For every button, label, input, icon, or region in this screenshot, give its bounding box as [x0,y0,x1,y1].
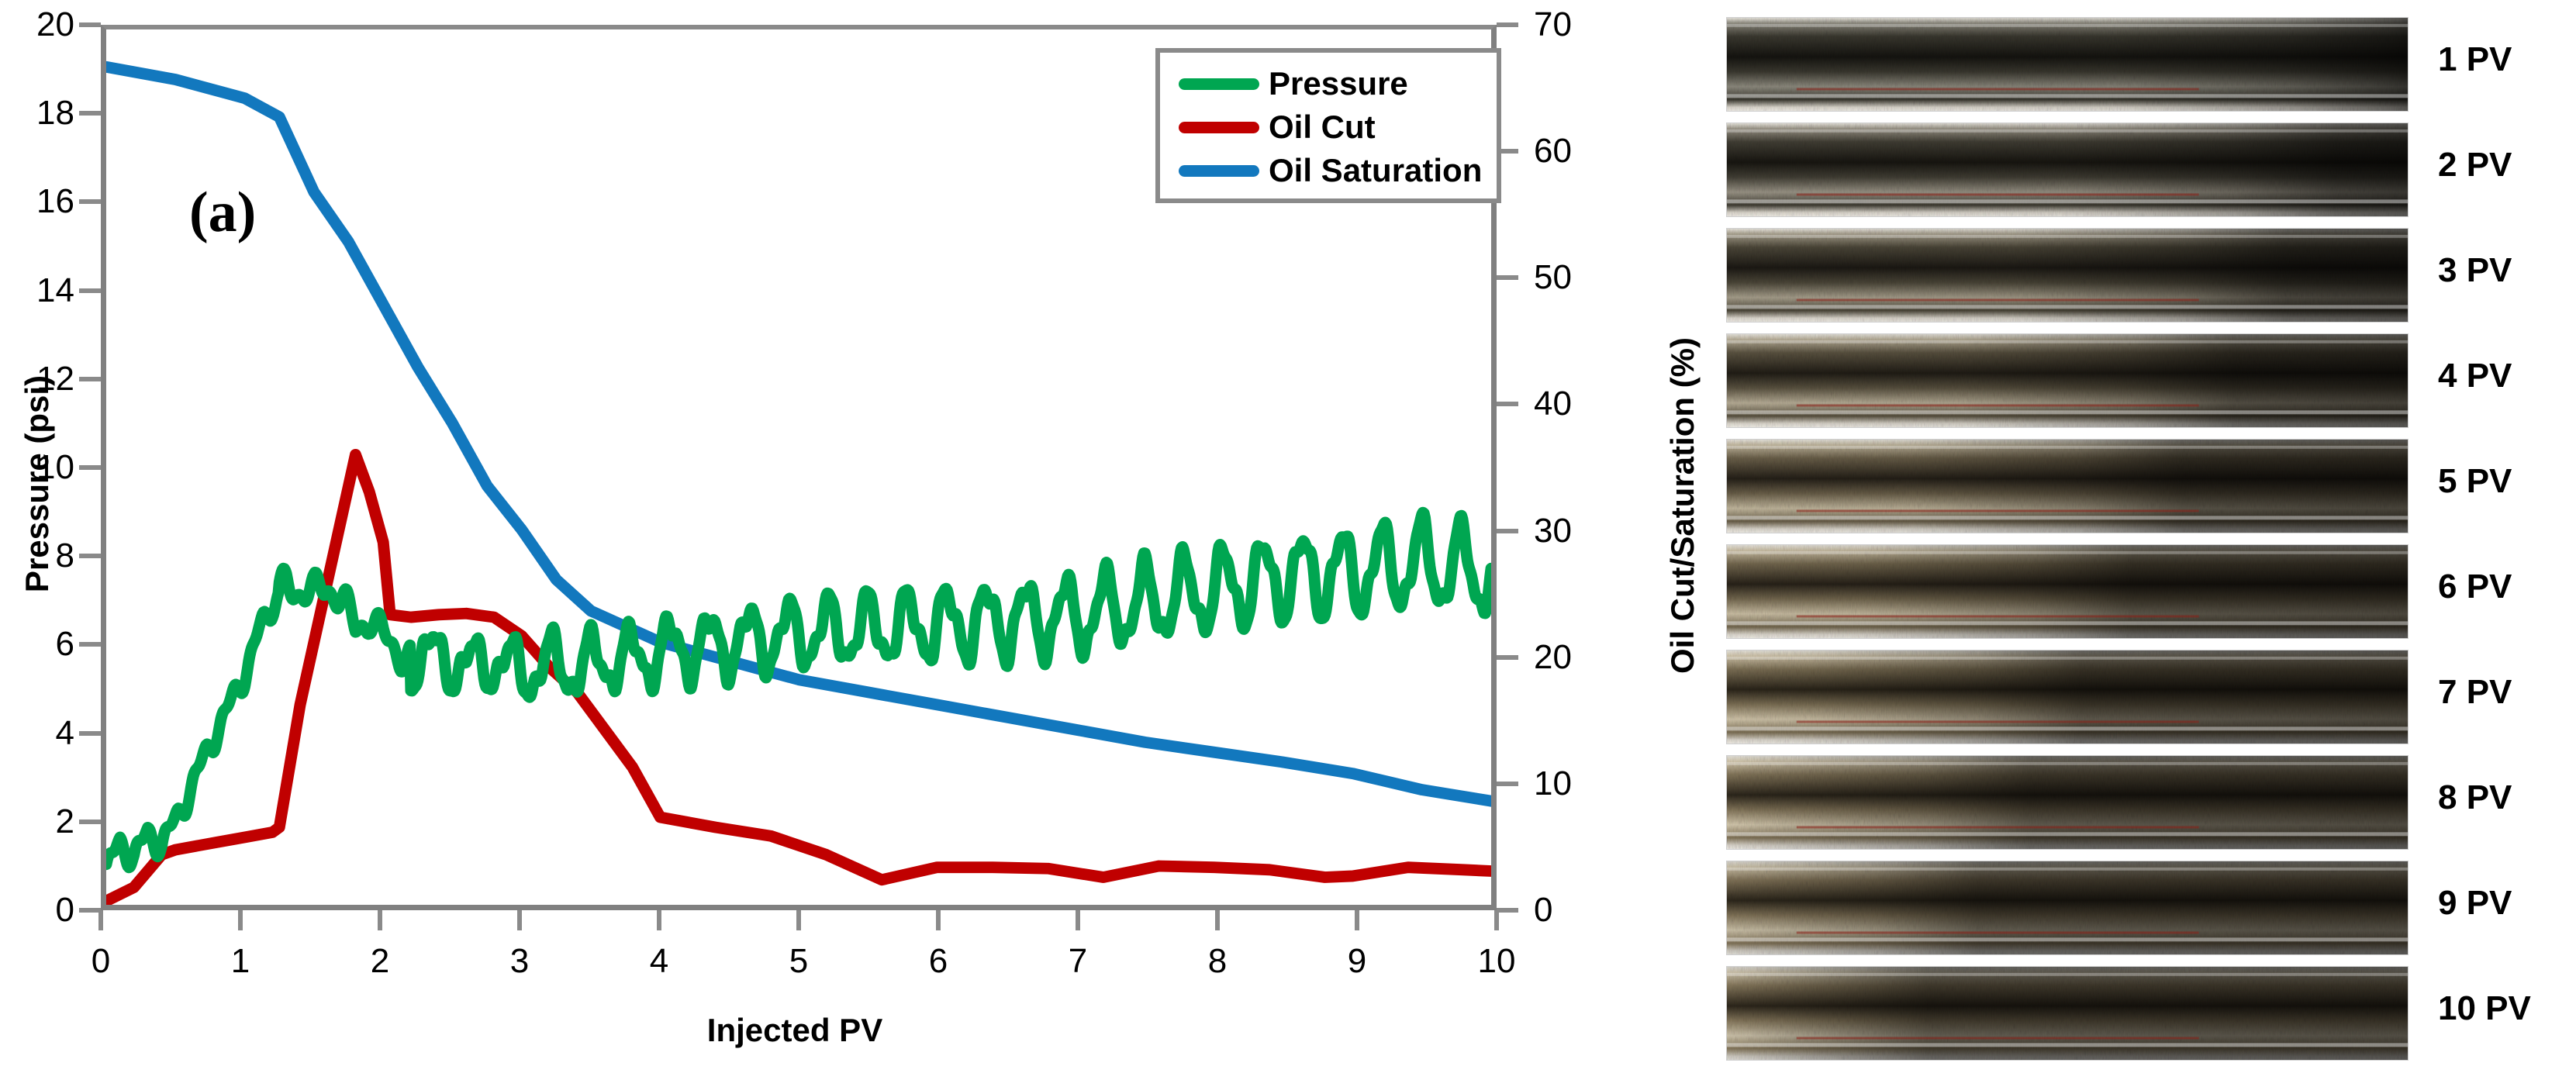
y-axis-right-tick [1497,22,1518,27]
y-axis-left-tick-label: 12 [0,362,74,396]
y-axis-right-tick-label: 50 [1534,261,1627,295]
y-axis-right-tick-label: 60 [1534,134,1627,168]
core-flood-photo [1726,755,2409,850]
legend-label-oil-saturation: Oil Saturation [1269,152,1482,189]
core-flood-row: 2 PV [1726,123,2576,222]
x-axis-tick-label: 9 [1326,944,1388,978]
core-flood-label: 1 PV [2438,40,2576,79]
legend-swatch-oil-saturation [1179,165,1259,177]
core-flood-row: 3 PV [1726,228,2576,327]
y-axis-left-tick-label: 6 [0,627,74,661]
y-axis-left-tick-label: 16 [0,185,74,219]
y-axis-left-tick [79,820,101,824]
core-flood-row: 10 PV [1726,966,2576,1065]
core-flood-photo [1726,228,2409,323]
core-flood-row: 8 PV [1726,755,2576,854]
core-flood-label: 4 PV [2438,357,2576,395]
x-axis-tick-label: 0 [70,944,132,978]
core-flood-image-column: 1 PV2 PV3 PV4 PV5 PV6 PV7 PV8 PV9 PV10 P… [1726,17,2576,1071]
core-flood-label: 5 PV [2438,462,2576,501]
x-axis-tick-label: 5 [768,944,830,978]
y-axis-right-tick [1497,782,1518,786]
y-axis-right-tick [1497,402,1518,406]
core-flood-photo [1726,17,2409,112]
core-flood-row: 1 PV [1726,17,2576,116]
core-flood-label: 10 PV [2438,989,2576,1028]
legend-item[interactable]: Pressure [1160,62,1497,105]
core-flood-label: 8 PV [2438,778,2576,817]
core-flood-label: 9 PV [2438,884,2576,923]
x-axis-title: Injected PV [101,1012,1489,1049]
chart-legend: Pressure Oil Cut Oil Saturation [1155,48,1501,203]
pressure-curve [106,512,1491,868]
x-axis-tick [936,910,941,930]
y-axis-left-tick-label: 8 [0,539,74,573]
y-axis-right-tick [1497,529,1518,533]
core-flood-row: 7 PV [1726,650,2576,749]
x-axis-tick [238,910,243,930]
x-axis-tick-label: 10 [1466,944,1528,978]
x-axis-tick-label: 4 [628,944,690,978]
y-axis-left-tick-label: 10 [0,450,74,485]
y-axis-right-tick [1497,655,1518,660]
legend-swatch-oil-cut [1179,122,1259,133]
y-axis-left-tick-label: 4 [0,716,74,751]
x-axis-tick [98,910,103,930]
core-flood-row: 4 PV [1726,333,2576,433]
y-axis-right-tick-label: 0 [1534,893,1627,927]
core-flood-photo [1726,439,2409,533]
core-flood-photo [1726,861,2409,955]
core-flood-photo [1726,123,2409,217]
y-axis-left-tick [79,22,101,27]
x-axis-tick-label: 1 [209,944,271,978]
y-axis-right-title: Oil Cut/Saturation (%) [1664,288,1701,723]
y-axis-left-tick [79,288,101,293]
x-axis-tick [378,910,382,930]
x-axis-tick-label: 7 [1047,944,1109,978]
x-axis-tick [657,910,661,930]
core-flood-label: 6 PV [2438,568,2576,606]
core-flood-label: 7 PV [2438,673,2576,712]
panel-letter: (a) [189,180,256,246]
legend-item[interactable]: Oil Cut [1160,105,1497,149]
y-axis-left-tick [79,111,101,116]
core-flood-photo [1726,650,2409,744]
y-axis-right-tick-label: 40 [1534,387,1627,421]
y-axis-left-tick [79,731,101,736]
x-axis-tick [517,910,522,930]
y-axis-right-tick [1497,275,1518,280]
y-axis-left-tick [79,908,101,913]
x-axis-tick [1215,910,1220,930]
y-axis-left-tick-label: 20 [0,8,74,42]
legend-label-pressure: Pressure [1269,65,1408,102]
y-axis-left-tick [79,465,101,470]
y-axis-right-tick-label: 70 [1534,8,1627,42]
x-axis-tick [1355,910,1359,930]
x-axis-tick [796,910,801,930]
legend-swatch-pressure [1179,78,1259,90]
y-axis-right-tick [1497,908,1518,913]
y-axis-right-tick-label: 30 [1534,514,1627,548]
core-flood-photo [1726,333,2409,428]
y-axis-left-tick [79,377,101,381]
y-axis-left-tick [79,199,101,204]
core-flood-row: 6 PV [1726,544,2576,644]
x-axis-tick [1076,910,1080,930]
core-flood-row: 9 PV [1726,861,2576,960]
core-flood-label: 3 PV [2438,251,2576,290]
core-flood-row: 5 PV [1726,439,2576,538]
chart-panel: Pressure (psi) Oil Cut/Saturation (%) In… [0,0,1706,1087]
x-axis-tick-label: 6 [907,944,969,978]
core-flood-photo [1726,966,2409,1061]
y-axis-left-tick [79,554,101,558]
y-axis-left-tick [79,642,101,647]
y-axis-right-tick-label: 20 [1534,640,1627,675]
y-axis-right-tick-label: 10 [1534,767,1627,801]
x-axis-tick [1494,910,1499,930]
core-flood-label: 2 PV [2438,146,2576,185]
legend-label-oil-cut: Oil Cut [1269,109,1376,146]
core-flood-photo [1726,544,2409,639]
legend-item[interactable]: Oil Saturation [1160,149,1497,192]
y-axis-left-tick-label: 14 [0,274,74,308]
y-axis-left-tick-label: 0 [0,893,74,927]
y-axis-left-tick-label: 18 [0,96,74,130]
x-axis-tick-label: 2 [349,944,411,978]
x-axis-tick-label: 3 [489,944,551,978]
x-axis-tick-label: 8 [1186,944,1248,978]
y-axis-left-tick-label: 2 [0,805,74,839]
